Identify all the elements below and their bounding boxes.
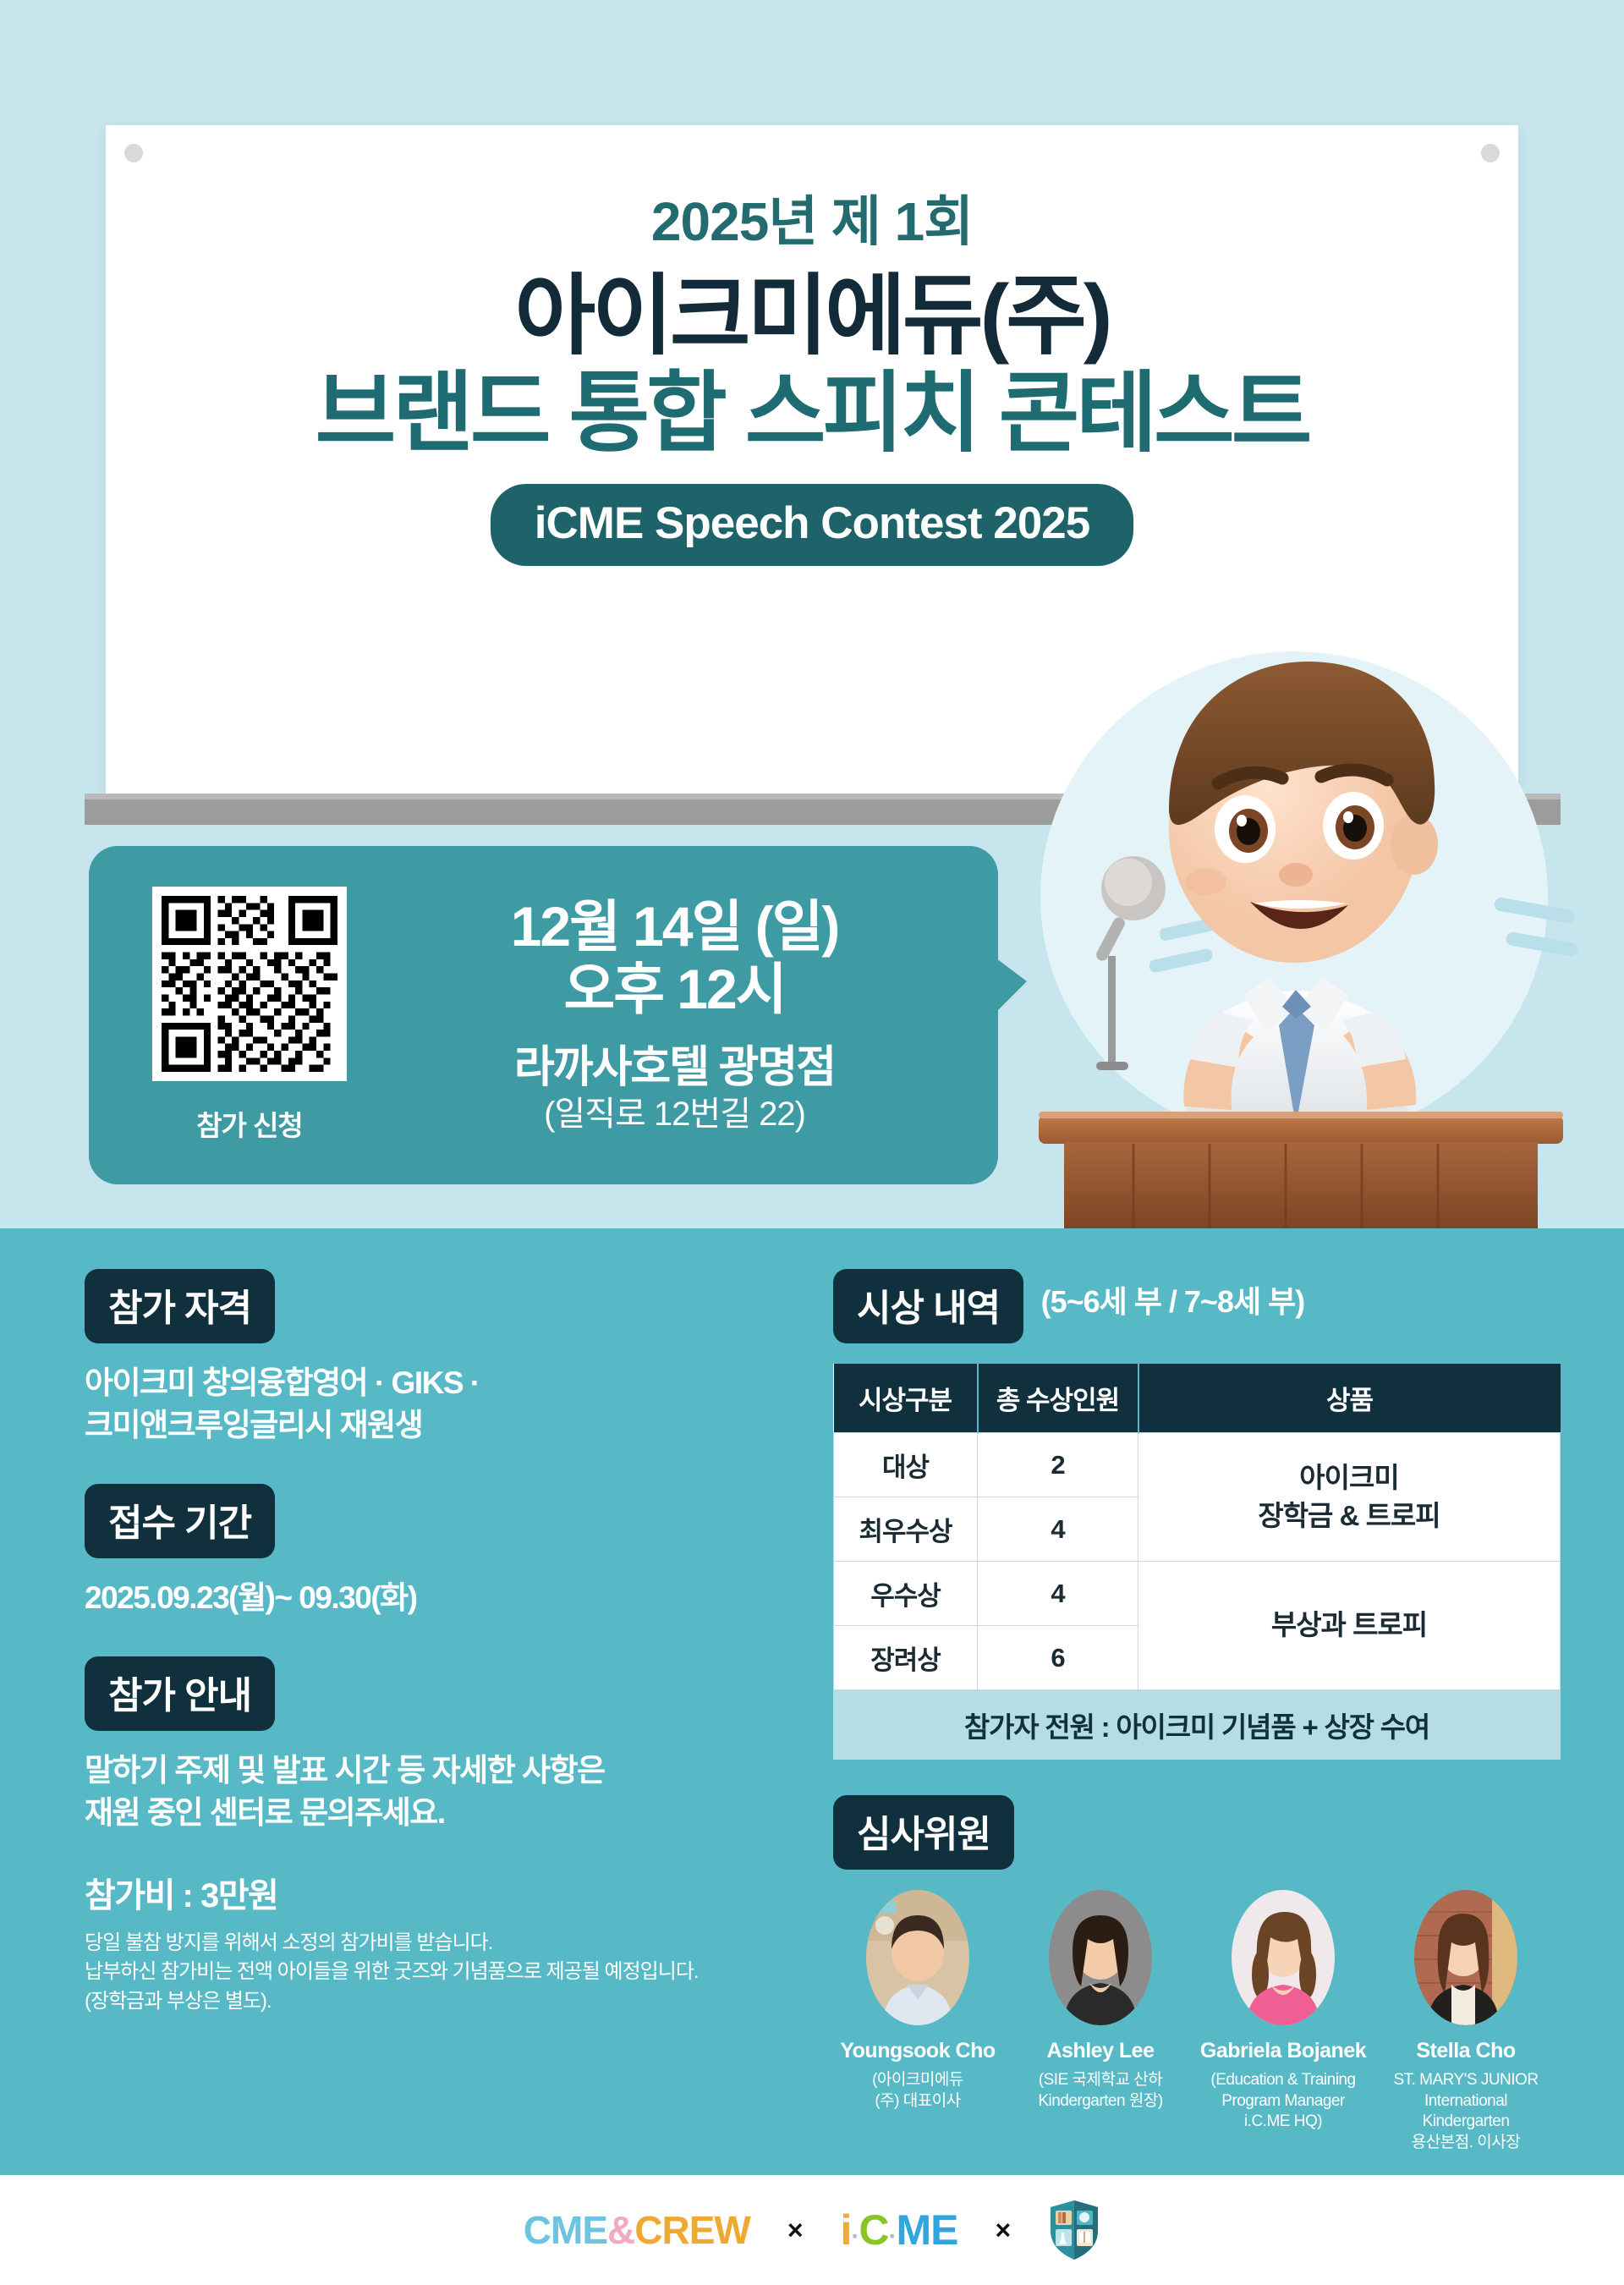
cme-crew-logo-part-2: CR <box>634 2208 689 2252</box>
award-name-1: 최우수상 <box>834 1497 978 1562</box>
judge-avatar-3 <box>1414 1890 1517 2025</box>
judges-badge: 심사위원 <box>833 1795 1014 1870</box>
judge-role-2: (Education & Training Program Manager i.… <box>1199 2070 1368 2133</box>
title-company-line: 아이크미에듀(주) <box>106 271 1518 363</box>
right-info-column: 시상 내역 (5~6세 부 / 7~8세 부) 시상구분 총 수상인원 상품 대… <box>833 1269 1561 2154</box>
award-count-1: 4 <box>978 1497 1138 1562</box>
judge-avatar-0 <box>866 1890 969 2025</box>
left-info-column: 참가 자격 아이크미 창의융합영어 · GIKS · 크미앤크루잉글리시 재원생… <box>85 1269 812 2054</box>
mascot-boy-at-podium-illustration <box>939 618 1624 1228</box>
judge-role-1: (SIE 국제학교 산하 Kindergarten 원장) <box>1016 2070 1185 2112</box>
award-count-2: 4 <box>978 1562 1138 1626</box>
event-venue: 라까사호텔 광명점 <box>385 1043 964 1094</box>
award-name-2: 우수상 <box>834 1562 978 1626</box>
eligibility-badge: 참가 자격 <box>85 1269 275 1343</box>
fee-note-1: 당일 불참 방지를 위해서 소정의 참가비를 받습니다. <box>85 1929 812 1958</box>
table-header-row: 시상구분 총 수상인원 상품 <box>834 1364 1561 1433</box>
judge-name-2: Gabriela Bojanek <box>1199 2039 1368 2063</box>
judge-role-0-line-1: (아이크미에듀 <box>833 2070 1002 2091</box>
th-prize: 상품 <box>1138 1364 1561 1433</box>
title-contest-line: 브랜드 통합 스피치 콘테스트 <box>106 368 1518 460</box>
judge-role-0: (아이크미에듀 (주) 대표이사 <box>833 2070 1002 2112</box>
judge-role-2-line-3: i.C.ME HQ) <box>1199 2112 1368 2133</box>
judge-role-1-line-1: (SIE 국제학교 산하 <box>1016 2070 1185 2091</box>
judges-list: Youngsook Cho (아이크미에듀 (주) 대표이사 Ash <box>833 1890 1561 2154</box>
awards-table: 시상구분 총 수상인원 상품 대상 2 아이크미 장학금 & 트로피 최우수상 … <box>833 1364 1561 1690</box>
icme-logo-me: ME <box>897 2206 958 2254</box>
qr-code-image[interactable] <box>152 887 347 1081</box>
awards-table-footer: 참가자 전원 : 아이크미 기념품 + 상장 수여 <box>833 1690 1561 1760</box>
event-date: 12월 14일 (일) <box>385 896 964 958</box>
table-row: 대상 2 아이크미 장학금 & 트로피 <box>834 1433 1561 1497</box>
prize-group-1-line-2: 장학금 & 트로피 <box>1138 1497 1560 1535</box>
qr-block: 참가 신청 <box>89 887 385 1144</box>
award-count-3: 6 <box>978 1626 1138 1690</box>
guide-badge: 참가 안내 <box>85 1656 275 1731</box>
table-row: 우수상 4 부상과 트로피 <box>834 1562 1561 1626</box>
poster-root: 2025년 제 1회 아이크미에듀(주) 브랜드 통합 스피치 콘테스트 iCM… <box>0 0 1624 2285</box>
separator-x-2: × <box>996 2215 1012 2246</box>
th-award-type: 시상구분 <box>834 1364 978 1433</box>
awards-age-groups: (5~6세 부 / 7~8세 부) <box>1041 1277 1305 1321</box>
event-address: (일직로 12번길 22) <box>385 1094 964 1134</box>
event-date-text: 12월 14일 (일) 오후 12시 라까사호텔 광명점 (일직로 12번길 2… <box>385 896 998 1134</box>
prize-group-1-line-1: 아이크미 <box>1138 1459 1560 1497</box>
cme-crew-logo: CME&CREW <box>524 2207 750 2253</box>
icme-logo-dot-2: · <box>889 2222 897 2250</box>
fee-note-2: 납부하신 참가비는 전액 아이들을 위한 굿즈와 기념품으로 제공될 예정입니다… <box>85 1958 812 1987</box>
judge-card-1: Ashley Lee (SIE 국제학교 산하 Kindergarten 원장) <box>1016 1890 1185 2154</box>
award-name-0: 대상 <box>834 1433 978 1497</box>
icme-logo-c: C <box>859 2206 888 2254</box>
podium <box>1039 1112 1563 1228</box>
judge-role-0-line-2: (주) 대표이사 <box>833 2091 1002 2112</box>
event-time: 오후 12시 <box>385 958 964 1021</box>
judge-role-1-line-2: Kindergarten 원장) <box>1016 2091 1185 2112</box>
prize-group-1: 아이크미 장학금 & 트로피 <box>1138 1433 1561 1562</box>
judge-name-1: Ashley Lee <box>1016 2039 1185 2063</box>
cme-crew-logo-ampersand: & <box>607 2208 634 2252</box>
judge-avatar-1 <box>1049 1890 1152 2025</box>
guide-text: 말하기 주제 및 발표 시간 등 자세한 사항은 재원 중인 센터로 문의주세요… <box>85 1749 812 1834</box>
eligibility-block: 참가 자격 아이크미 창의융합영어 · GIKS · 크미앤크루잉글리시 재원생 <box>85 1269 812 1447</box>
awards-badge: 시상 내역 <box>833 1269 1023 1343</box>
judge-avatar-2 <box>1232 1890 1335 2025</box>
period-badge: 접수 기간 <box>85 1484 275 1558</box>
cme-crew-logo-part-3: EW <box>689 2208 750 2252</box>
judge-role-3-line-3: 용산본점. 이사장 <box>1381 2133 1550 2154</box>
guide-line-2: 재원 중인 센터로 문의주세요. <box>85 1792 812 1834</box>
qr-caption: 참가 신청 <box>114 1103 385 1144</box>
eligibility-text: 아이크미 창의융합영어 · GIKS · 크미앤크루잉글리시 재원생 <box>85 1362 812 1447</box>
eligibility-line-2: 크미앤크루잉글리시 재원생 <box>85 1404 812 1447</box>
separator-x-1: × <box>787 2215 804 2246</box>
period-block: 접수 기간 2025.09.23(월)~ 09.30(화) <box>85 1484 812 1619</box>
giks-shield-logo-icon <box>1048 2199 1100 2261</box>
icme-logo: i·C·ME <box>841 2205 958 2255</box>
title-year-line: 2025년 제 1회 <box>106 195 1518 249</box>
judges-header: 심사위원 <box>833 1795 1561 1870</box>
judge-role-3-line-2: International Kindergarten <box>1381 2091 1550 2133</box>
subtitle-pill: iCME Speech Contest 2025 <box>491 484 1133 566</box>
event-details-card: 참가 신청 12월 14일 (일) 오후 12시 라까사호텔 광명점 (일직로 … <box>89 846 998 1184</box>
judge-card-3: Stella Cho ST. MARY'S JUNIOR Internation… <box>1381 1890 1550 2154</box>
judge-role-3-line-1: ST. MARY'S JUNIOR <box>1381 2070 1550 2091</box>
judge-role-2-line-1: (Education & Training <box>1199 2070 1368 2091</box>
fee-notes: 당일 불참 방지를 위해서 소정의 참가비를 받습니다. 납부하신 참가비는 전… <box>85 1929 812 2017</box>
icme-logo-i: i <box>841 2206 852 2254</box>
judge-name-0: Youngsook Cho <box>833 2039 1002 2063</box>
th-winner-count: 총 수상인원 <box>978 1364 1138 1433</box>
prize-group-2: 부상과 트로피 <box>1138 1562 1561 1690</box>
fee-amount: 참가비 : 3만원 <box>85 1868 812 1917</box>
judge-role-2-line-2: Program Manager <box>1199 2091 1368 2112</box>
award-count-0: 2 <box>978 1433 1138 1497</box>
judge-card-0: Youngsook Cho (아이크미에듀 (주) 대표이사 <box>833 1890 1002 2154</box>
cme-crew-logo-part-1: CME <box>524 2208 607 2252</box>
period-value: 2025.09.23(월)~ 09.30(화) <box>85 1577 812 1619</box>
judge-role-3: ST. MARY'S JUNIOR International Kinderga… <box>1381 2070 1550 2154</box>
guide-line-1: 말하기 주제 및 발표 시간 등 자세한 사항은 <box>85 1749 812 1792</box>
eligibility-line-1: 아이크미 창의융합영어 · GIKS · <box>85 1362 812 1404</box>
guide-block: 참가 안내 말하기 주제 및 발표 시간 등 자세한 사항은 재원 중인 센터로… <box>85 1656 812 2017</box>
fee-note-3: (장학금과 부상은 별도). <box>85 1987 812 2017</box>
footer-logo-bar: CME&CREW × i·C·ME × <box>0 2175 1624 2285</box>
awards-header: 시상 내역 (5~6세 부 / 7~8세 부) <box>833 1269 1561 1343</box>
award-name-3: 장려상 <box>834 1626 978 1690</box>
judge-name-3: Stella Cho <box>1381 2039 1550 2063</box>
judge-card-2: Gabriela Bojanek (Education & Training P… <box>1199 1890 1368 2154</box>
